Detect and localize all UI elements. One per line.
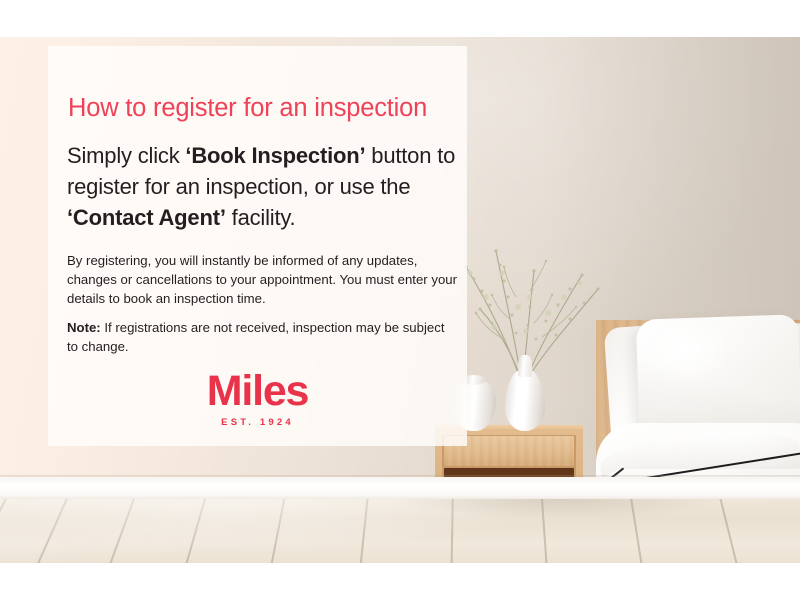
vase-tall-neck [518,355,532,377]
vase-tall [505,369,545,431]
brand-logo: Miles EST. 1924 [48,368,467,428]
floor-shadow [400,499,800,529]
subheading-line1-pre: Simply click [67,143,185,168]
wood-floor [0,499,800,563]
poster-canvas: How to register for an inspection Simply… [0,0,800,600]
logo-wordmark: Miles [48,368,467,414]
overlay-content: How to register for an inspection Simply… [48,46,467,446]
note-label: Note: [67,320,101,335]
subheading-line3-post: facility. [226,205,296,230]
body-paragraph: By registering, you will instantly be in… [67,251,457,308]
skirting-board [0,477,800,501]
logo-established: EST. 1924 [48,417,467,428]
book-inspection-emphasis: ‘Book Inspection’ [185,143,365,168]
subheading-line1-post: button [365,143,431,168]
subheading: Simply click ‘Book Inspection’ button to… [67,140,467,233]
page-title: How to register for an inspection [68,94,427,123]
note-text: If registrations are not received, inspe… [67,320,445,354]
note-paragraph: Note: If registrations are not received,… [67,318,457,356]
contact-agent-emphasis: ‘Contact Agent’ [67,205,226,230]
